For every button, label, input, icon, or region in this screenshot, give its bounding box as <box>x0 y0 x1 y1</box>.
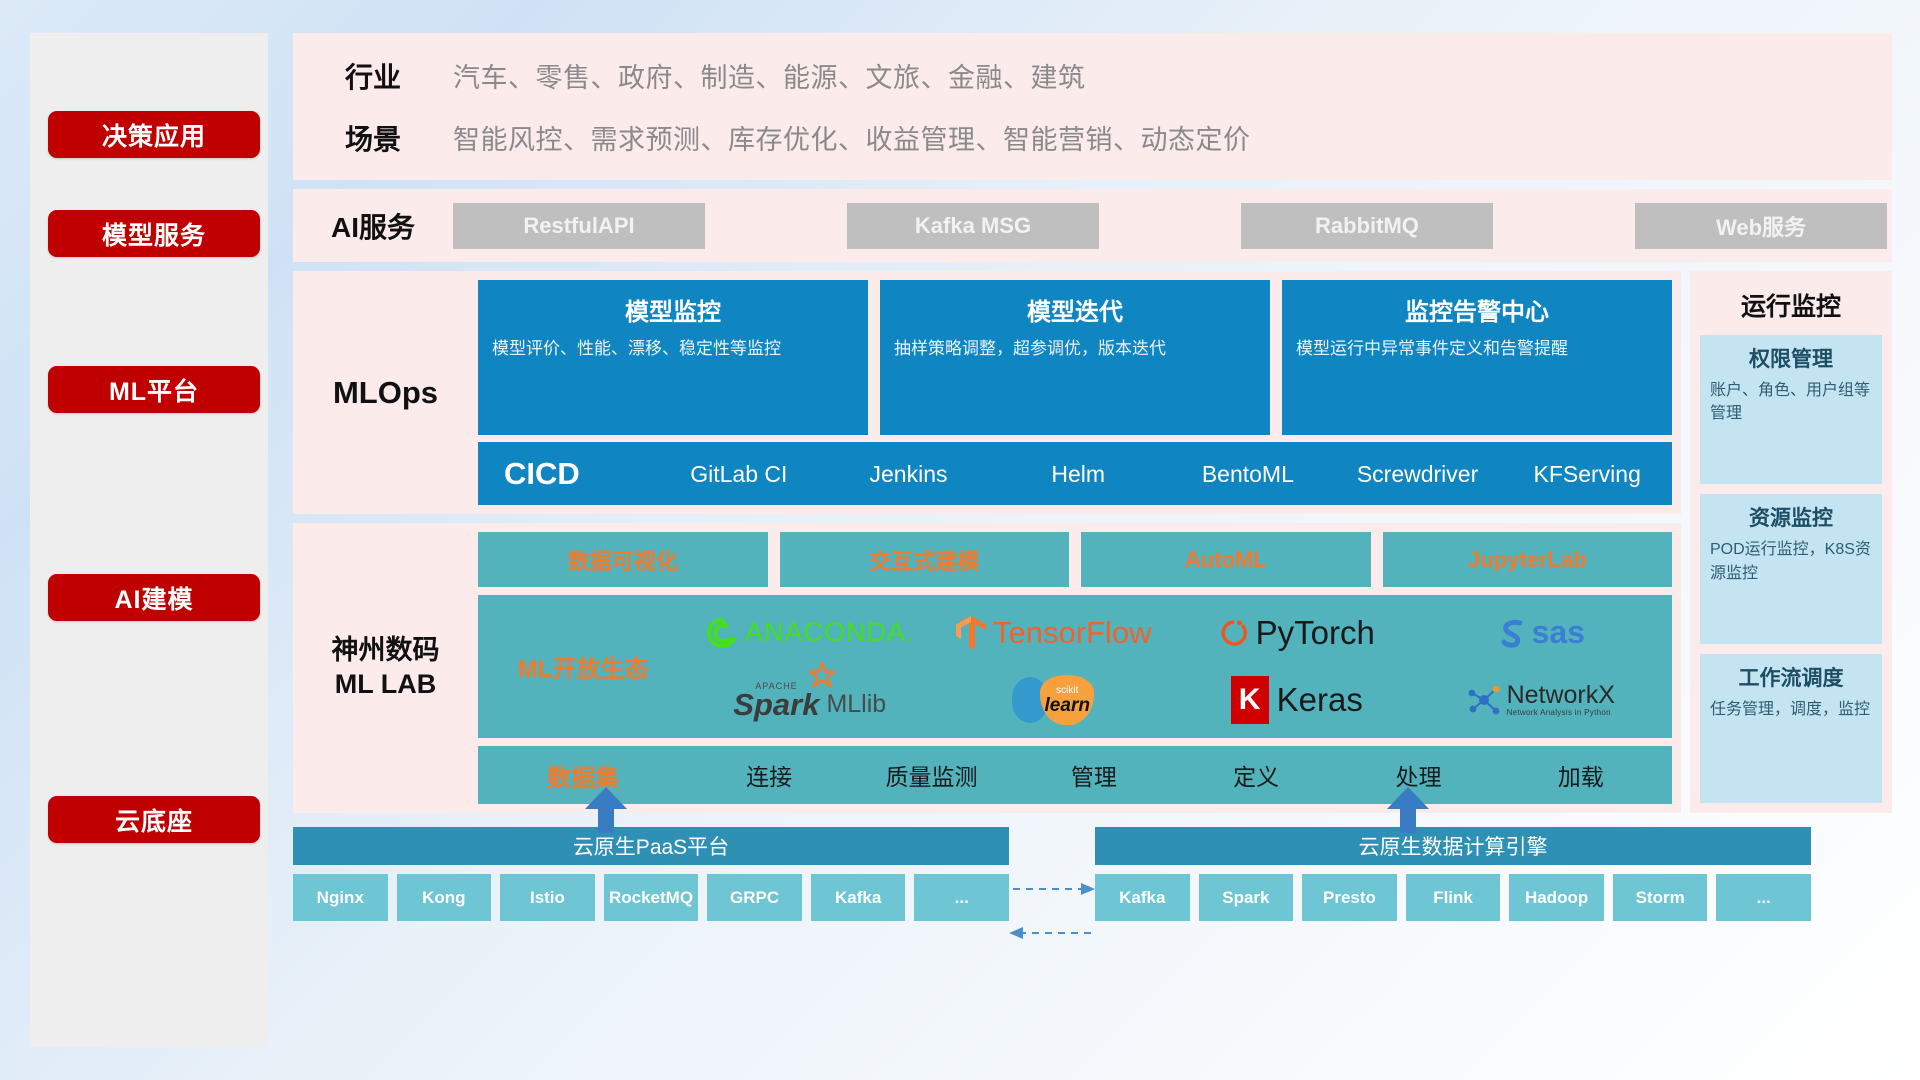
ml-lab-label-line2: ML LAB <box>335 668 437 702</box>
runtime-monitoring-column: 运行监控 权限管理 账户、角色、用户组等管理 资源监控 POD运行监控，K8S资… <box>1690 271 1892 813</box>
keras-logo-text: Keras <box>1277 681 1363 719</box>
tensorflow-logo-text: TensorFlow <box>993 615 1152 651</box>
pytorch-logo[interactable]: PyTorch <box>1219 614 1375 652</box>
mlops-cards: 模型监控 模型评价、性能、漂移、稳定性等监控 模型迭代 抽样策略调整，超参调优，… <box>478 280 1672 435</box>
compute-chip-hadoop[interactable]: Hadoop <box>1509 874 1604 921</box>
anaconda-logo-text: ANACONDA. <box>745 617 915 648</box>
monitor-card-permission[interactable]: 权限管理 账户、角色、用户组等管理 <box>1700 335 1882 484</box>
tensorflow-logo[interactable]: TensorFlow <box>955 615 1152 651</box>
card-title: 资源监控 <box>1710 502 1872 532</box>
mlops-card-model-monitoring[interactable]: 模型监控 模型评价、性能、漂移、稳定性等监控 <box>478 280 868 435</box>
paas-chip-grpc[interactable]: GRPC <box>707 874 802 921</box>
compute-chip-storm[interactable]: Storm <box>1613 874 1708 921</box>
ai-service-label: AI服务 <box>293 206 453 246</box>
ai-service-band: AI服务 RestfulAPI Kafka MSG RabbitMQ Web服务 <box>293 189 1892 262</box>
ml-ecosystem-label: ML开放生态 <box>478 649 688 684</box>
pytorch-flame-icon <box>1219 616 1249 650</box>
industry-row: 行业 汽车、零售、政府、制造、能源、文旅、金融、建筑 <box>293 45 1892 107</box>
tensorflow-mark-icon <box>955 615 987 651</box>
learn-word-text: learn <box>1045 696 1090 715</box>
service-chip-rabbitmq[interactable]: RabbitMQ <box>1241 203 1493 249</box>
cicd-tool-gitlab-ci[interactable]: GitLab CI <box>654 462 824 486</box>
service-chip-web-service[interactable]: Web服务 <box>1635 203 1887 249</box>
keras-k-letter: K <box>1239 683 1261 717</box>
dataset-item-manage[interactable]: 管理 <box>1013 758 1175 792</box>
card-desc: 模型评价、性能、漂移、稳定性等监控 <box>492 337 854 362</box>
sas-swirl-icon <box>1496 616 1530 650</box>
compute-chip-more[interactable]: ... <box>1716 874 1811 921</box>
compute-chip-kafka[interactable]: Kafka <box>1095 874 1190 921</box>
card-desc: 任务管理，调度，监控 <box>1710 698 1872 721</box>
cicd-tool-bentoml[interactable]: BentoML <box>1163 462 1333 486</box>
paas-up-arrow-icon <box>585 787 627 833</box>
spark-mllib-logo[interactable]: APACHE Spark MLlib <box>733 681 886 719</box>
rail-item-ai-modeling[interactable]: AI建模 <box>48 574 260 621</box>
dataset-item-quality[interactable]: 质量监测 <box>850 758 1012 792</box>
cicd-tools: GitLab CI Jenkins Helm BentoML Screwdriv… <box>654 460 1672 486</box>
spark-star-icon <box>809 662 835 688</box>
anaconda-logo[interactable]: ANACONDA. <box>705 616 915 650</box>
platform-region: MLOps 模型监控 模型评价、性能、漂移、稳定性等监控 模型迭代 抽样策略调整… <box>293 271 1892 813</box>
rail-item-cloud-base[interactable]: 云底座 <box>48 796 260 843</box>
ml-lab-content: 数据可视化 交互式建模 AutoML JupyterLab ML开放生态 <box>478 523 1681 813</box>
layer-rail: 决策应用 模型服务 ML平台 AI建模 云底座 <box>30 33 268 1047</box>
rail-item-ml-platform[interactable]: ML平台 <box>48 366 260 413</box>
paas-chips: Nginx Kong Istio RocketMQ GRPC Kafka ... <box>293 874 1009 921</box>
paas-chip-istio[interactable]: Istio <box>500 874 595 921</box>
dataset-item-define[interactable]: 定义 <box>1175 758 1337 792</box>
paas-chip-kafka[interactable]: Kafka <box>811 874 906 921</box>
cloud-link-connectors <box>1009 827 1095 962</box>
mlops-label: MLOps <box>293 271 478 514</box>
cicd-tool-kfserving[interactable]: KFServing <box>1502 462 1672 486</box>
scikit-learn-logo[interactable]: scikit learn <box>1012 675 1094 725</box>
card-title: 工作流调度 <box>1710 662 1872 692</box>
networkx-logo-text: NetworkX <box>1507 683 1615 708</box>
data-compute-engine-title: 云原生数据计算引擎 <box>1095 827 1811 865</box>
diagram-body: 行业 汽车、零售、政府、制造、能源、文旅、金融、建筑 场景 智能风控、需求预测、… <box>293 33 1892 1047</box>
dataset-row: 数据集 连接 质量监测 管理 定义 处理 加载 <box>478 746 1672 804</box>
cicd-tool-helm[interactable]: Helm <box>993 462 1163 486</box>
paas-platform-title: 云原生PaaS平台 <box>293 827 1009 865</box>
dataset-item-connect[interactable]: 连接 <box>688 758 850 792</box>
mlops-card-alert-center[interactable]: 监控告警中心 模型运行中异常事件定义和告警提醒 <box>1282 280 1672 435</box>
industry-values: 汽车、零售、政府、制造、能源、文旅、金融、建筑 <box>453 56 1086 95</box>
mlops-card-model-iteration[interactable]: 模型迭代 抽样策略调整，超参调优，版本迭代 <box>880 280 1270 435</box>
paas-platform-group: 云原生PaaS平台 Nginx Kong Istio RocketMQ GRPC… <box>293 827 1009 962</box>
ml-ecosystem-logos: ANACONDA. TensorFlow <box>688 595 1672 738</box>
rail-item-decision-app[interactable]: 决策应用 <box>48 111 260 158</box>
compute-chip-presto[interactable]: Presto <box>1302 874 1397 921</box>
cicd-tool-jenkins[interactable]: Jenkins <box>824 462 994 486</box>
architecture-diagram: 决策应用 模型服务 ML平台 AI建模 云底座 行业 汽车、零售、政府、制造、能… <box>30 33 1892 1047</box>
card-desc: 抽样策略调整，超参调优，版本迭代 <box>894 337 1256 362</box>
card-title: 模型监控 <box>492 292 854 327</box>
scenario-row: 场景 智能风控、需求预测、库存优化、收益管理、智能营销、动态定价 <box>293 107 1892 169</box>
cloud-foundation-region: 云原生PaaS平台 Nginx Kong Istio RocketMQ GRPC… <box>293 827 1892 962</box>
card-title: 模型迭代 <box>894 292 1256 327</box>
card-title: 监控告警中心 <box>1296 292 1658 327</box>
networkx-graph-icon <box>1466 682 1502 718</box>
networkx-logo[interactable]: NetworkX Network Analysis in Python <box>1466 682 1615 718</box>
paas-chip-rocketmq[interactable]: RocketMQ <box>604 874 699 921</box>
paas-chip-kong[interactable]: Kong <box>397 874 492 921</box>
dataset-item-load[interactable]: 加载 <box>1500 758 1662 792</box>
compute-chip-flink[interactable]: Flink <box>1406 874 1501 921</box>
cicd-title: CICD <box>504 456 654 492</box>
ml-lab-tab-data-visualization[interactable]: 数据可视化 <box>478 532 768 587</box>
paas-chip-more[interactable]: ... <box>914 874 1009 921</box>
scenario-label: 场景 <box>293 118 453 158</box>
card-desc: POD运行监控，K8S资源监控 <box>1710 538 1872 584</box>
platform-stack: MLOps 模型监控 模型评价、性能、漂移、稳定性等监控 模型迭代 抽样策略调整… <box>293 271 1681 813</box>
ml-lab-band: 神州数码 ML LAB 数据可视化 交互式建模 AutoML JupyterLa… <box>293 523 1681 813</box>
scenario-values: 智能风控、需求预测、库存优化、收益管理、智能营销、动态定价 <box>453 118 1251 157</box>
ml-lab-label: 神州数码 ML LAB <box>293 523 478 813</box>
paas-chip-nginx[interactable]: Nginx <box>293 874 388 921</box>
sas-logo-text: sas <box>1532 614 1585 651</box>
service-chip-restfulapi[interactable]: RestfulAPI <box>453 203 705 249</box>
ml-lab-tab-interactive-modeling[interactable]: 交互式建模 <box>780 532 1070 587</box>
runtime-monitoring-title: 运行监控 <box>1700 281 1882 325</box>
dataset-label: 数据集 <box>478 758 688 793</box>
cicd-bar: CICD GitLab CI Jenkins Helm BentoML Scre… <box>478 442 1672 505</box>
ml-ecosystem-row: ML开放生态 ANACONDA. <box>478 595 1672 738</box>
scikit-orange-blob-icon: scikit learn <box>1040 675 1094 725</box>
monitor-card-workflow[interactable]: 工作流调度 任务管理，调度，监控 <box>1700 654 1882 803</box>
compute-chips: Kafka Spark Presto Flink Hadoop Storm ..… <box>1095 874 1811 921</box>
keras-k-mark-icon: K <box>1231 676 1269 724</box>
spark-logo-text: Spark <box>733 691 819 719</box>
compute-engine-up-arrow-icon <box>1387 787 1429 833</box>
anaconda-ring-icon <box>705 616 739 650</box>
mllib-logo-text: MLlib <box>826 690 886 719</box>
mlops-content: 模型监控 模型评价、性能、漂移、稳定性等监控 模型迭代 抽样策略调整，超参调优，… <box>478 271 1681 514</box>
compute-chip-spark[interactable]: Spark <box>1199 874 1294 921</box>
industry-scenario-band: 行业 汽车、零售、政府、制造、能源、文旅、金融、建筑 场景 智能风控、需求预测、… <box>293 33 1892 180</box>
dataset-items: 连接 质量监测 管理 定义 处理 加载 <box>688 758 1672 792</box>
card-desc: 模型运行中异常事件定义和告警提醒 <box>1296 337 1658 362</box>
data-compute-engine-group: 云原生数据计算引擎 Kafka Spark Presto Flink Hadoo… <box>1095 827 1811 962</box>
ml-lab-tab-jupyterlab[interactable]: JupyterLab <box>1383 532 1673 587</box>
card-desc: 账户、角色、用户组等管理 <box>1710 379 1872 425</box>
industry-label: 行业 <box>293 56 453 96</box>
pytorch-logo-text: PyTorch <box>1256 614 1375 652</box>
mlops-band: MLOps 模型监控 模型评价、性能、漂移、稳定性等监控 模型迭代 抽样策略调整… <box>293 271 1681 514</box>
rail-item-model-service[interactable]: 模型服务 <box>48 210 260 257</box>
service-chip-kafka-msg[interactable]: Kafka MSG <box>847 203 1099 249</box>
cicd-tool-screwdriver[interactable]: Screwdriver <box>1333 462 1503 486</box>
sas-logo[interactable]: sas <box>1496 614 1585 651</box>
networkx-tagline: Network Analysis in Python <box>1507 708 1615 717</box>
ml-lab-label-line1: 神州数码 <box>332 634 440 668</box>
keras-logo[interactable]: K Keras <box>1231 676 1363 724</box>
ai-service-chips: RestfulAPI Kafka MSG RabbitMQ Web服务 <box>453 203 1892 249</box>
monitor-card-resource[interactable]: 资源监控 POD运行监控，K8S资源监控 <box>1700 494 1882 643</box>
card-title: 权限管理 <box>1710 343 1872 373</box>
ml-lab-tabs: 数据可视化 交互式建模 AutoML JupyterLab <box>478 532 1672 587</box>
ml-lab-tab-automl[interactable]: AutoML <box>1081 532 1371 587</box>
